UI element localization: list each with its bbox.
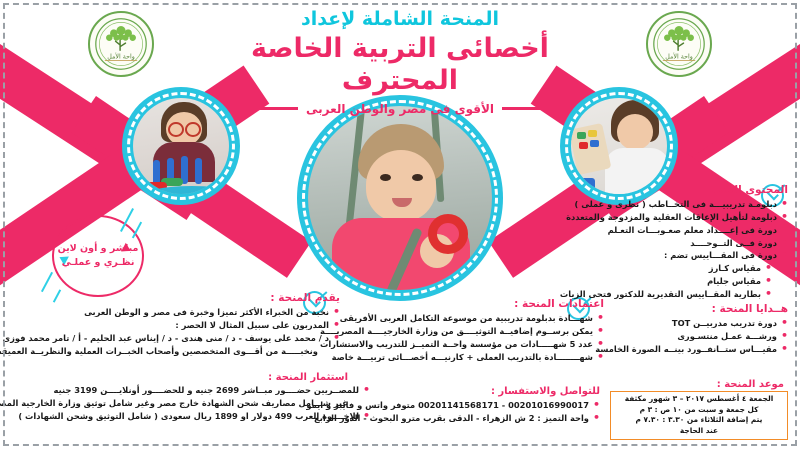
accreditation-item-0: شهـــادة بدبلومة تدريبية من موسوعة التكا… [340,312,593,325]
list-item: •دورة فــى التــوحــــد [556,237,788,250]
list-item: •للإخــــوة العرب 499 دولار او 1899 ريال… [70,410,370,423]
list-item: •للمصــريين حضــــور مبــاشر 2699 جنيه و… [70,384,370,397]
delivery-mode-badge: مباشر و أون لاين نظـري و عملـي [52,215,144,297]
provider-item-1: المدربون على سبيل المثال لا الحصر : [175,319,329,332]
photo-image-center [308,106,492,290]
investment-note: غير شـــامل مصاريف شحن الشهادة خارج مصر … [0,397,348,410]
accreditation-item-3: شهــــــــادة بالتدريب العملى + كارنيـــ… [332,351,593,364]
subtitle-row: الأقوى فى مصر والوطن العربى [200,102,600,116]
accreditation-item-2: عدد 5 شهـــــادات من مؤسسة واحــة التميـ… [320,338,593,351]
accreditation-heading: اعتمادات المنحة : [354,298,604,310]
list-item: •شهــــــــادة بالتدريب العملى + كارنيــ… [354,351,604,364]
list-item: •دورة فى إعــــداد معلم صعـوبـــات التعـ… [556,224,788,237]
provider-closing: ونخبـــــة من أقـــوى المتخصصين وأصحاب ا… [0,345,318,358]
technical-item-0: دبلومـة تدريبيـــة فى التخــاطب ( نظرى و… [575,198,777,211]
technical-item-3: دورة فــى التــوحــــد [690,237,777,250]
provider-heading: يقدم المنحة : [78,292,340,304]
investment-item-1: للإخــــوة العرب 499 دولار او 1899 ريال … [18,410,359,423]
title-block: المنحة الشاملة لإعداد أخصائى التربية الخ… [200,8,600,116]
list-item: •د / محمد على يوسف - د / منى هندى - د / … [78,332,340,345]
date-box: الجمعة ٤ أغسطس ٢٠١٧ – ٣ شهور مكثفة كل جم… [610,391,788,440]
list-item: •نخبة من الخبراء الأكثر تميزا وخبرة فى م… [78,306,340,319]
list-item: •دبلومـة تدريبيـــة فى التخــاطب ( نظرى … [556,198,788,211]
title-line-2: أخصائى التربية الخاصة المحترف [200,33,600,98]
subtitle-rule-left [242,107,298,110]
oasis-logo-right: واحة الأمل [646,11,712,77]
technical-item-1: دبلومة لتأهيل الإعاقات العقلية والمزدوجة… [566,211,777,224]
svg-text:واحة الأمل: واحة الأمل [107,52,135,60]
provider-item-2: د / محمد على يوسف - د / منى هندى - د / إ… [3,332,329,345]
date-line-2: يتم إضافة الثلاثاء من ٣.٣٠ : ٧.٣٠ م [615,415,783,426]
badge-line-1: مباشر و أون لاين [58,242,139,256]
accreditation-item-1: يمكن برســوم إضافيــة التوثيــــق من وزا… [320,325,593,338]
section-provider: يقدم المنحة : •نخبة من الخبراء الأكثر تم… [78,290,340,357]
list-item: •غير شـــامل مصاريف شحن الشهادة خارج مصر… [70,397,370,410]
investment-item-0: للمصــريين حضــــور مبــاشر 2699 جنيه و … [54,384,359,397]
technical-item-2: دورة فى إعــــداد معلم صعـوبـــات التعـل… [608,224,777,237]
oasis-logo-left: واحة الأمل [88,11,154,77]
gift-item-2: مقيـــاس ستــانفــورد بينــه الصورة الخا… [595,343,777,356]
list-item: •مقياس كـارز [556,262,788,275]
photo-child-center [297,95,503,301]
date-line-3: عند الحاجة [615,426,783,437]
gift-item-0: دورة تدريب مدربيــن TOT [672,317,777,330]
section-accreditation: اعتمادات المنحة : •شهـــادة بدبلومة تدري… [354,296,604,363]
subtitle-rule-right [502,107,558,110]
gift-item-1: ورشـــة عمـل منتسـورى [677,330,777,343]
poster-canvas: واحة الأمل واحة الأمل المنحة الشاملة لإع… [0,0,800,449]
list-item: •شهـــادة بدبلومة تدريبية من موسوعة التك… [354,312,604,325]
technical-item-4: دورة فى المقـــاييس تضم : [664,249,777,262]
list-item: •مقياس جليام [556,275,788,288]
list-item: •دورة فى المقـــاييس تضم : [556,249,788,262]
date-line-0: الجمعة ٤ أغسطس ٢٠١٧ – ٣ شهور مكثفة [615,394,783,405]
date-heading: موعد المنحة : [717,379,784,390]
list-item: •ونخبـــــة من أقـــوى المتخصصين وأصحاب … [78,345,340,358]
svg-text:واحة الأمل: واحة الأمل [665,52,693,60]
title-line-1: المنحة الشاملة لإعداد [200,8,600,32]
provider-item-0: نخبة من الخبراء الأكثر تميزا وخبرة فى مص… [84,306,329,319]
list-item: •عدد 5 شهـــــادات من مؤسسة واحــة التمي… [354,338,604,351]
investment-heading: استثمار المنحة : [268,372,348,383]
technical-sub-0: مقياس كـارز [709,262,761,275]
technical-sub-1: مقياس جليام [707,275,761,288]
date-line-1: كل جمعة و سبت من ١٠ ص : ٣ م [615,405,783,416]
subtitle-text: الأقوى فى مصر والوطن العربى [306,102,494,116]
section-investment: •للمصــريين حضــــور مبــاشر 2699 جنيه و… [70,384,370,423]
list-item: •يمكن برســوم إضافيــة التوثيــــق من وز… [354,325,604,338]
contact-heading: للتواصل والاستفسار : [491,386,600,397]
list-item: •دبلومة لتأهيل الإعاقات العقلية والمزدوج… [556,211,788,224]
badge-text: مباشر و أون لاين نظـري و عملـي [52,215,144,297]
technical-heading: المحتوى الفنى : [556,184,788,196]
badge-line-2: نظـري و عملـي [62,256,135,270]
list-item: •المدربون على سبيل المثال لا الحصر : [78,319,340,332]
